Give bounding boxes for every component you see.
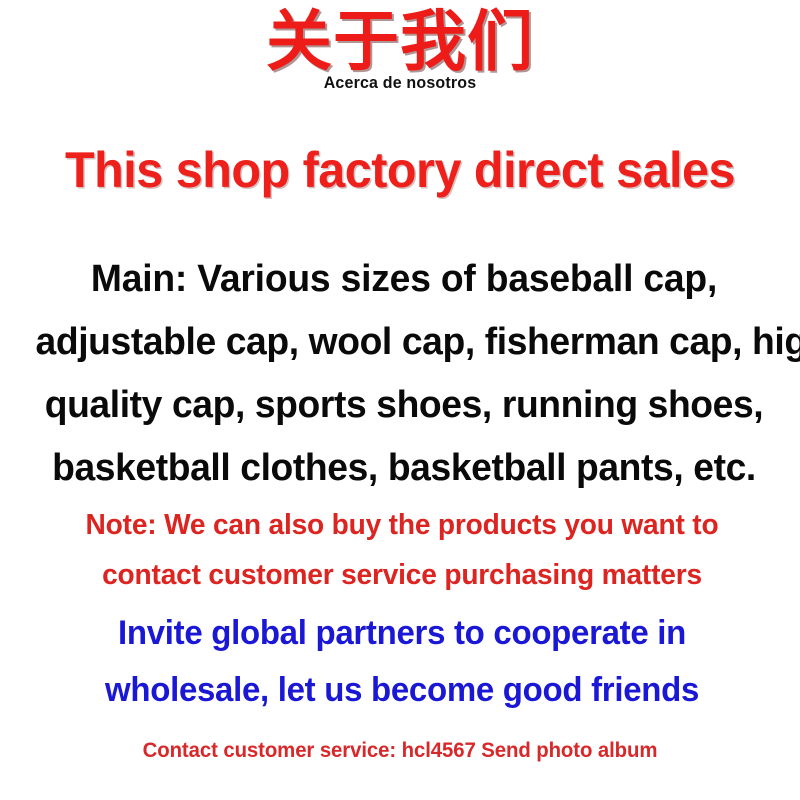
invite-line: wholesale, let us become good friends [33,662,770,719]
main-product-line: Main: Various sizes of baseball cap, [36,248,773,311]
main-product-line: basketball clothes, basketball pants, et… [36,437,773,500]
invite-partners-block: Invite global partners to cooperate in w… [22,605,782,719]
main-product-line: quality cap, sports shoes, running shoes… [36,374,773,437]
about-us-banner: 关于我们 Acerca de nosotros This shop factor… [0,0,800,800]
headline-factory-direct-sales: This shop factory direct sales [12,143,788,198]
invite-line: Invite global partners to cooperate in [33,605,770,662]
note-line: Note: We can also buy the products you w… [33,500,770,550]
header-block: 关于我们 Acerca de nosotros [0,8,800,94]
page-title-chinese: 关于我们 [0,8,800,75]
footer-contact-info: Contact customer service: hcl4567 Send p… [12,738,788,763]
page-subtitle-spanish: Acerca de nosotros [24,73,776,93]
note-block: Note: We can also buy the products you w… [22,500,782,600]
main-product-list: Main: Various sizes of baseball cap, adj… [28,248,780,500]
main-product-line: adjustable cap, wool cap, fisherman cap,… [36,311,773,374]
note-line: contact customer service purchasing matt… [33,550,770,600]
